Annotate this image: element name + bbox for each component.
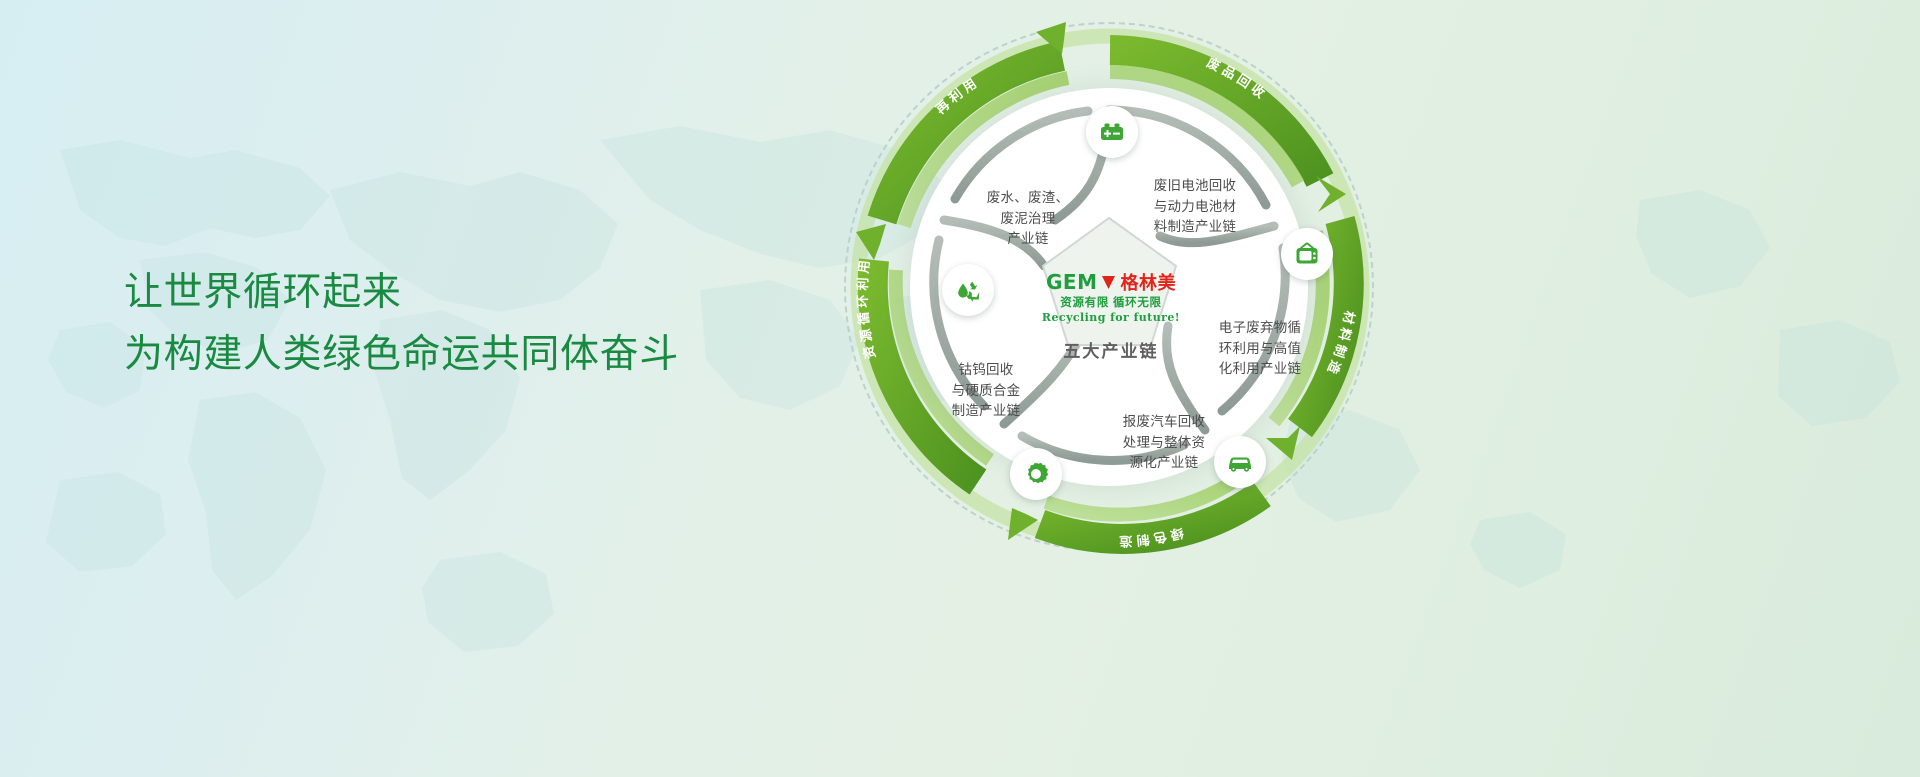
- segment-label-cobalt: 钴钨回收 与硬质合金 制造产业链: [924, 360, 1048, 422]
- centre-brand-block: GEM 格林美 资源有限 循环无限 Recycling for future! …: [1016, 272, 1206, 362]
- gear-icon: [1010, 448, 1062, 500]
- centre-title: 五大产业链: [1016, 337, 1206, 362]
- battery-icon: [1086, 106, 1138, 158]
- recycle-drop-icon: [942, 264, 994, 316]
- segment-label-water: 废水、废渣、 废泥治理 产业链: [966, 188, 1090, 250]
- five-industry-chains-diagram: 废品回收 材料制造 绿色制造 资源循环利用 再利用: [830, 0, 1390, 777]
- brand-logo-latin: GEM: [1046, 270, 1097, 294]
- car-icon: [1214, 436, 1266, 488]
- headline-line-2: 为构建人类绿色命运共同体奋斗: [124, 324, 924, 386]
- brand-slogan-en: Recycling for future!: [1016, 311, 1206, 324]
- segment-label-battery: 废旧电池回收 与动力电池材 料制造产业链: [1134, 176, 1256, 238]
- segment-label-ewaste: 电子废弃物循 环利用与高值 化利用产业链: [1198, 318, 1322, 380]
- segment-label-vehicle: 报废汽车回收 处理与整体资 源化产业链: [1102, 412, 1226, 474]
- brand-logo-row: GEM 格林美: [1016, 272, 1206, 292]
- brand-logo-cn: 格林美: [1120, 269, 1176, 295]
- brand-slogan-cn: 资源有限 循环无限: [1016, 294, 1206, 310]
- tv-icon: [1281, 228, 1333, 280]
- headline-line-1: 让世界循环起来: [124, 262, 924, 324]
- brand-triangle-icon: [1102, 275, 1115, 290]
- page-headline: 让世界循环起来 为构建人类绿色命运共同体奋斗: [124, 262, 924, 385]
